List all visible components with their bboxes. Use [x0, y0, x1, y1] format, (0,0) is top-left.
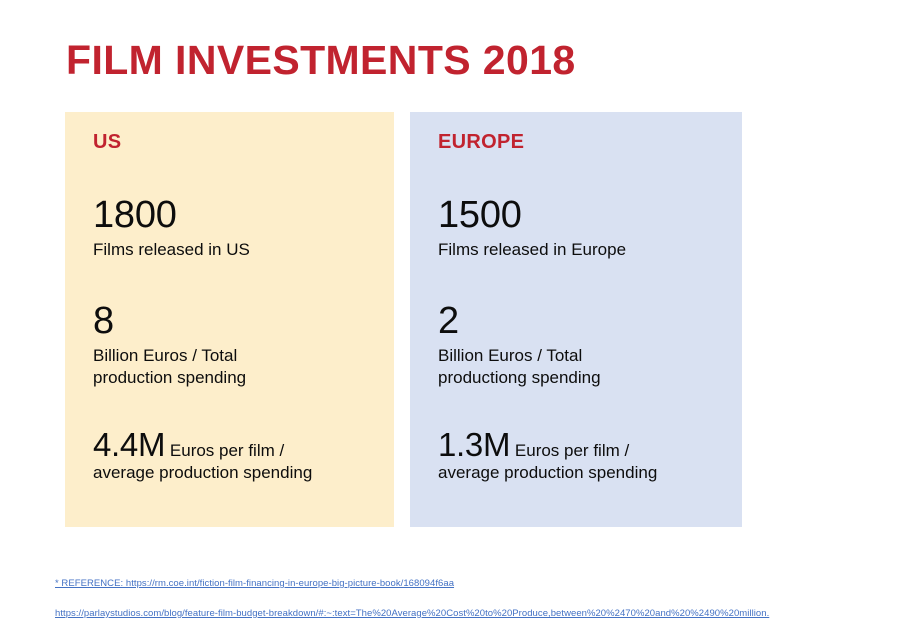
panel-us-heading: US	[93, 130, 368, 154]
stat-value: 2	[438, 302, 716, 340]
stat-value: 8	[93, 302, 368, 340]
panel-europe: EUROPE 1500 Films released in Europe 2 B…	[410, 112, 742, 527]
stat-label-second-line: average production spending	[93, 463, 312, 482]
stat-label: Films released in US	[93, 239, 368, 262]
reference-link-2[interactable]: https://parlaystudios.com/blog/feature-f…	[55, 608, 895, 621]
stat-label: Billion Euros / Total productiong spendi…	[438, 345, 716, 390]
stat-label: Billion Euros / Total production spendin…	[93, 345, 368, 390]
stat-europe-films-released: 1500 Films released in Europe	[438, 196, 716, 262]
stat-value: 4.4M	[93, 426, 165, 463]
reference-link-1[interactable]: * REFERENCE: https://rm.coe.int/fiction-…	[55, 578, 895, 591]
references: * REFERENCE: https://rm.coe.int/fiction-…	[55, 578, 895, 621]
stat-us-per-film: 4.4M Euros per film / average production…	[93, 428, 368, 485]
stat-label-second-line: average production spending	[438, 463, 657, 482]
stat-us-films-released: 1800 Films released in US	[93, 196, 368, 262]
stat-us-total-spending: 8 Billion Euros / Total production spend…	[93, 302, 368, 390]
panel-europe-heading: EUROPE	[438, 130, 716, 154]
stat-label: Films released in Europe	[438, 239, 716, 262]
stat-value: 1.3M	[438, 426, 510, 463]
stat-europe-total-spending: 2 Billion Euros / Total productiong spen…	[438, 302, 716, 390]
stat-label-inline: Euros per film /	[510, 441, 629, 460]
page-title: FILM INVESTMENTS 2018	[66, 38, 576, 83]
panel-us: US 1800 Films released in US 8 Billion E…	[65, 112, 394, 527]
slide-canvas: FILM INVESTMENTS 2018 US 1800 Films rele…	[0, 0, 918, 625]
stat-europe-per-film: 1.3M Euros per film / average production…	[438, 428, 716, 485]
stat-label-inline: Euros per film /	[165, 441, 284, 460]
stat-value: 1500	[438, 196, 716, 234]
stat-value: 1800	[93, 196, 368, 234]
